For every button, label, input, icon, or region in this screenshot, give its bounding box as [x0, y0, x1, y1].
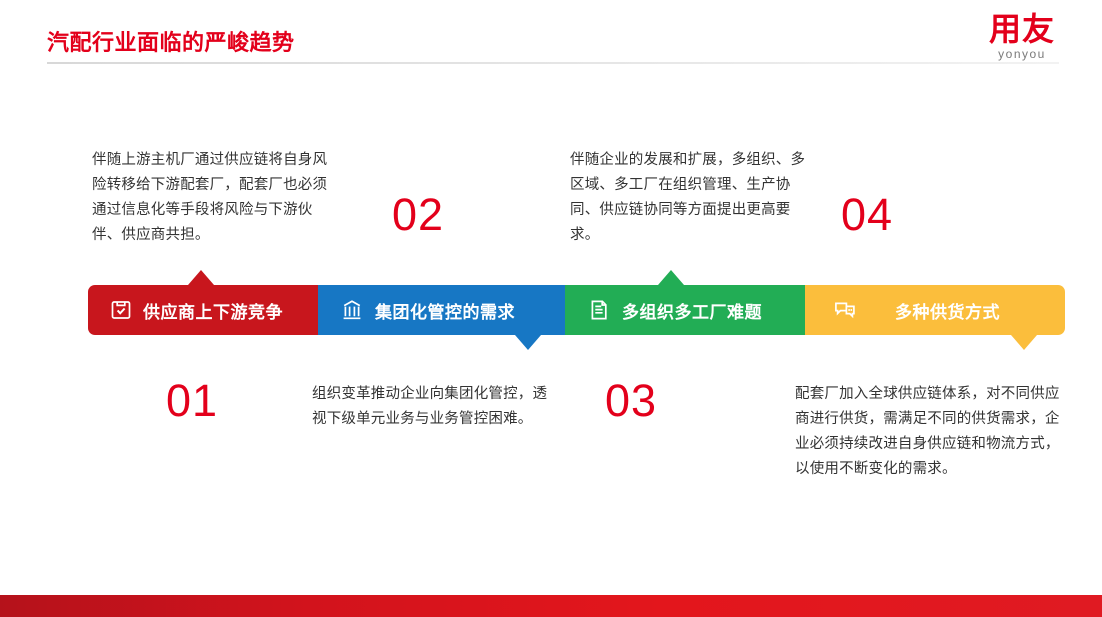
page-title: 汽配行业面临的严峻趋势 — [47, 25, 295, 57]
ribbon-segment-supplier-competition[interactable]: 供应商上下游竞争 — [88, 285, 318, 335]
callout-text-04: 伴随企业的发展和扩展，多组织、多区域、多工厂在组织管理、生产协同、供应链协同等方… — [570, 148, 817, 248]
callout-number-04: 04 — [841, 192, 893, 237]
ribbon-segment-group-control[interactable]: 集团化管控的需求 — [318, 285, 565, 335]
callout-text-03: 配套厂加入全球供应链体系，对不同供应商进行供货，需满足不同的供货需求，企业必须持… — [795, 382, 1060, 482]
bank-building-icon — [340, 298, 364, 322]
ribbon-arrow-down-04 — [1011, 335, 1037, 350]
slide-header: 汽配行业面临的严峻趋势 — [0, 0, 1102, 78]
header-divider — [47, 62, 1059, 64]
callout-number-01: 01 — [166, 378, 218, 423]
clipboard-check-icon — [109, 298, 133, 322]
callout-number-03: 03 — [605, 378, 657, 423]
ribbon-segment-label: 供应商上下游竞争 — [143, 298, 283, 323]
bottom-accent-stripe — [0, 595, 1102, 617]
chat-boxes-icon — [833, 298, 857, 322]
ribbon-arrow-up-03 — [658, 270, 684, 285]
brand-logo-mark: 用友 — [980, 12, 1064, 46]
ribbon-segment-label: 多种供货方式 — [895, 298, 1000, 323]
callout-text-02: 伴随上游主机厂通过供应链将自身风险转移给下游配套厂，配套厂也必须通过信息化等手段… — [92, 148, 332, 248]
ribbon-segment-supply-modes[interactable]: 多种供货方式 — [805, 285, 1065, 335]
brand-logo: 用友 yonyou — [980, 12, 1064, 60]
ribbon-bar: 供应商上下游竞争 集团化管控的需求 多组织多工厂难题 — [88, 285, 1065, 335]
callout-text-01: 组织变革推动企业向集团化管控，透视下级单元业务与业务管控困难。 — [312, 382, 554, 432]
brand-logo-text: yonyou — [980, 48, 1064, 60]
callout-number-02: 02 — [392, 192, 444, 237]
ribbon-segment-label: 多组织多工厂难题 — [622, 298, 762, 323]
document-lines-icon — [587, 298, 611, 322]
ribbon-arrow-down-02 — [515, 335, 541, 350]
ribbon-segment-label: 集团化管控的需求 — [375, 298, 515, 323]
ribbon-segment-multi-org-plant[interactable]: 多组织多工厂难题 — [565, 285, 805, 335]
ribbon-arrow-up-01 — [188, 270, 214, 285]
